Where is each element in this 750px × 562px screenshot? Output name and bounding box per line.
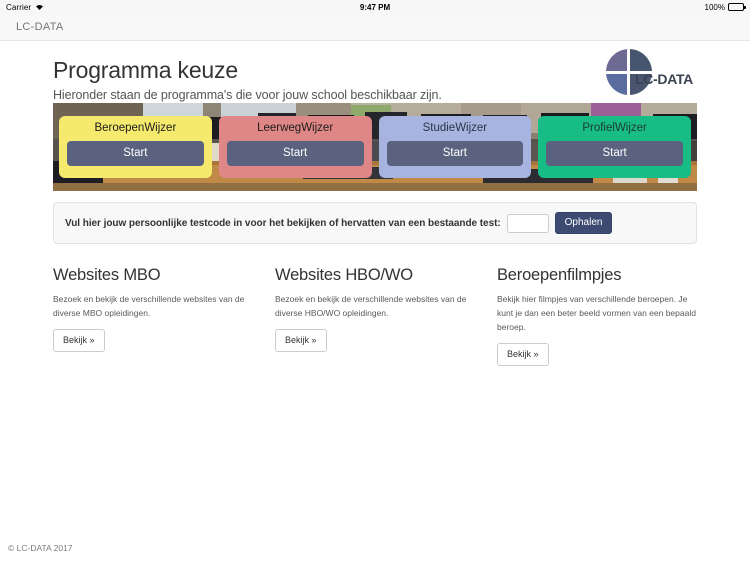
page-header: Programma keuze Hieronder staan de progr… [53, 41, 697, 99]
logo-text: LC-DATA [635, 71, 693, 87]
testcode-label: Vul hier jouw persoonlijke testcode in v… [65, 218, 501, 229]
navbar-brand[interactable]: LC-DATA [16, 21, 64, 33]
battery-icon [728, 3, 744, 11]
navbar: LC-DATA [0, 14, 750, 41]
copyright-text: © LC-DATA 2017 [8, 543, 73, 553]
column-title: Websites MBO [53, 266, 253, 285]
testcode-panel: Vul hier jouw persoonlijke testcode in v… [53, 202, 697, 244]
card-title: BeroepenWijzer [94, 122, 176, 136]
program-card-profielwijzer[interactable]: ProfielWijzer Start [538, 116, 691, 178]
bekijk-button-websites-mbo[interactable]: Bekijk » [53, 329, 105, 352]
info-columns: Websites MBO Bezoek en bekijk de verschi… [53, 266, 697, 366]
page-subtitle: Hieronder staan de programma's die voor … [53, 88, 697, 102]
column-text: Bekijk hier filmpjes van verschillende b… [497, 292, 697, 334]
ios-status-bar: Carrier 9:47 PM 100% [0, 0, 750, 14]
column-text: Bezoek en bekijk de verschillende websit… [275, 292, 475, 320]
column-websites-mbo: Websites MBO Bezoek en bekijk de verschi… [53, 266, 275, 366]
column-beroepenfilmpjes: Beroepenfilmpjes Bekijk hier filmpjes va… [497, 266, 697, 366]
start-button-profielwijzer[interactable]: Start [546, 141, 683, 166]
program-card-beroepenwijzer[interactable]: BeroepenWijzer Start [59, 116, 212, 178]
bekijk-button-websites-hbo-wo[interactable]: Bekijk » [275, 329, 327, 352]
start-button-leerwegwijzer[interactable]: Start [227, 141, 364, 166]
column-title: Websites HBO/WO [275, 266, 475, 285]
lc-data-logo: LC-DATA [606, 49, 693, 95]
program-cards: BeroepenWijzer Start LeerwegWijzer Start… [53, 103, 697, 191]
card-title: ProfielWijzer [582, 122, 647, 136]
column-title: Beroepenfilmpjes [497, 266, 697, 285]
column-websites-hbo-wo: Websites HBO/WO Bezoek en bekijk de vers… [275, 266, 497, 366]
start-button-beroepenwijzer[interactable]: Start [67, 141, 204, 166]
start-button-studiewijzer[interactable]: Start [387, 141, 524, 166]
bekijk-button-beroepenfilmpjes[interactable]: Bekijk » [497, 343, 549, 366]
program-card-studiewijzer[interactable]: StudieWijzer Start [379, 116, 532, 178]
card-title: LeerwegWijzer [257, 122, 333, 136]
ophalen-button[interactable]: Ophalen [555, 212, 613, 234]
status-bar-time: 9:47 PM [0, 3, 750, 12]
page-footer: © LC-DATA 2017 [0, 538, 750, 556]
program-card-leerwegwijzer[interactable]: LeerwegWijzer Start [219, 116, 372, 178]
page-title: Programma keuze [53, 57, 697, 83]
testcode-input[interactable] [507, 214, 549, 233]
main-container: Programma keuze Hieronder staan de progr… [45, 41, 705, 366]
card-title: StudieWijzer [423, 122, 488, 136]
program-banner: BeroepenWijzer Start LeerwegWijzer Start… [53, 103, 697, 191]
column-text: Bezoek en bekijk de verschillende websit… [53, 292, 253, 320]
